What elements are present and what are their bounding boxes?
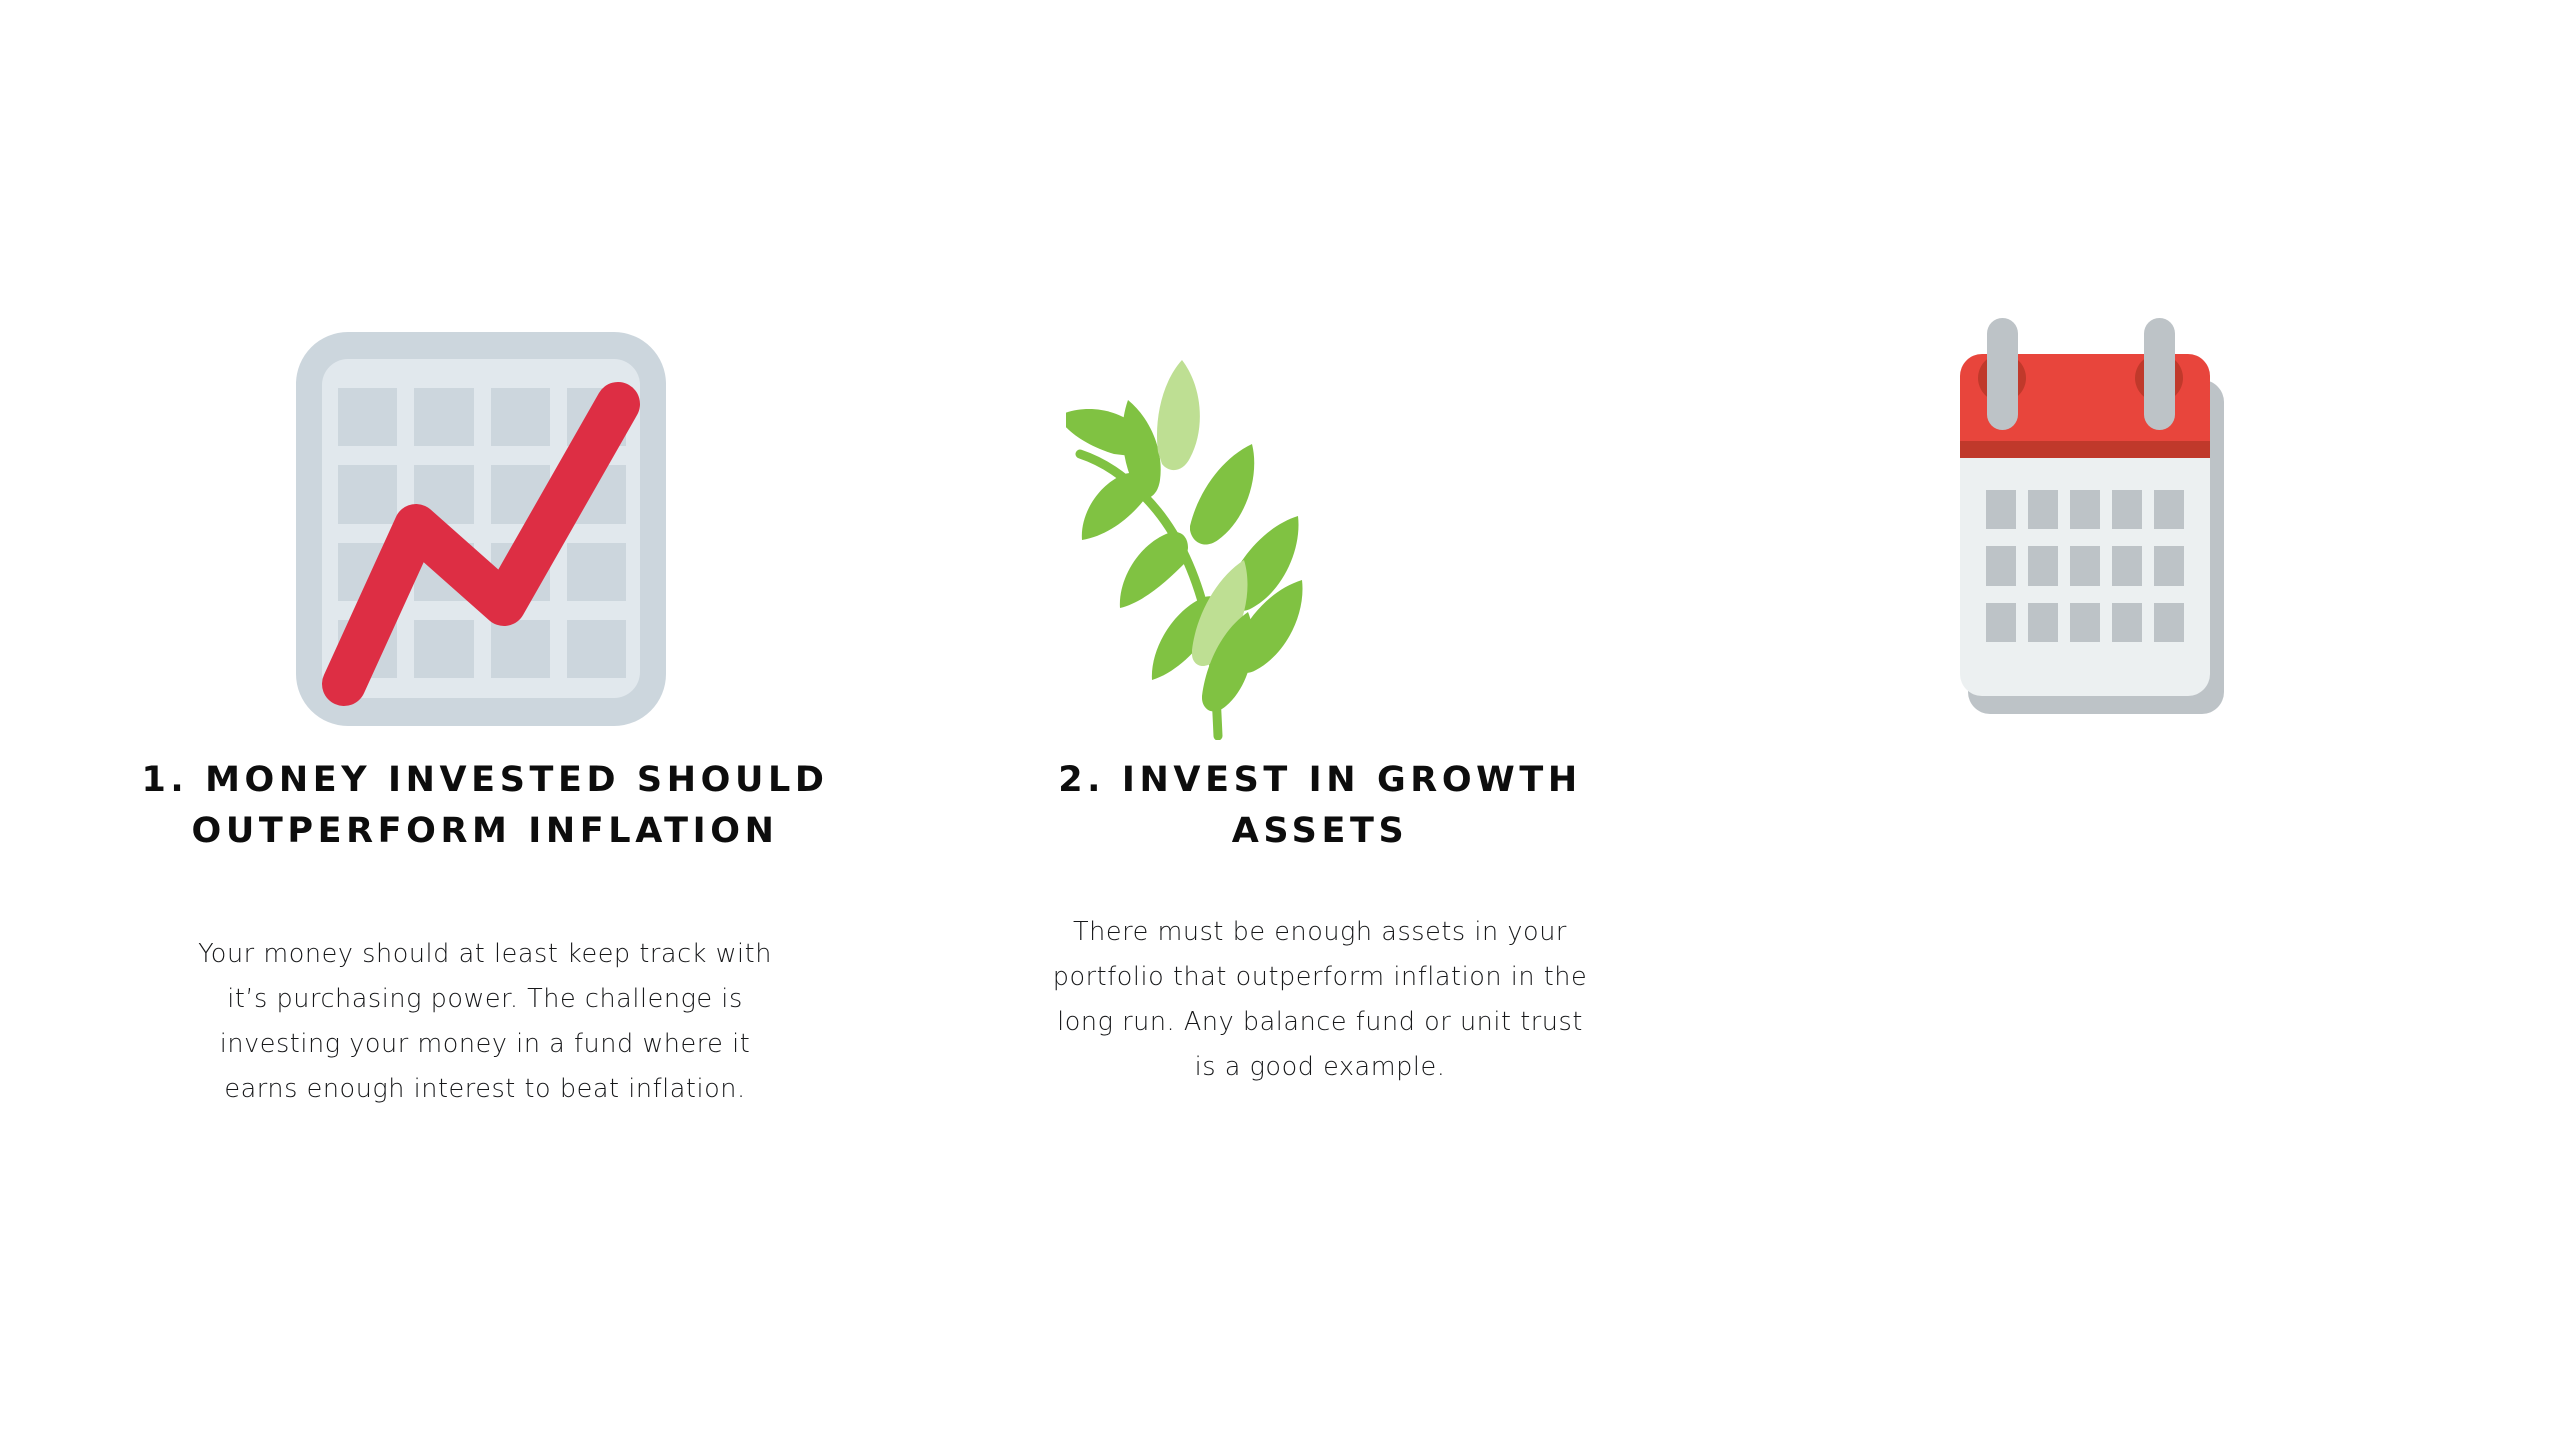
calendar-day-cell <box>2154 603 2184 642</box>
calendar-day-cell <box>2154 490 2184 529</box>
calendar-day-cell <box>2112 603 2142 642</box>
calendar-day-cell <box>2070 546 2100 585</box>
calendar-day-cell <box>2070 490 2100 529</box>
calendar-day-cell <box>2154 546 2184 585</box>
calendar-day-cell <box>2112 546 2142 585</box>
column-money-invested: 1. MONEY INVESTED SHOULD OUTPERFORM INFL… <box>60 0 910 1440</box>
leaf-branch-group <box>1066 360 1303 736</box>
calendar-day-cell <box>2070 603 2100 642</box>
column-calendar <box>1830 0 2470 1440</box>
calendar-icon <box>1956 318 2224 718</box>
trend-line-icon <box>296 332 666 726</box>
leaf-branch-icon <box>1066 320 1366 740</box>
calendar-day-cell <box>1986 546 2016 585</box>
calendar-body <box>1960 458 2210 696</box>
infographic-canvas: 1. MONEY INVESTED SHOULD OUTPERFORM INFL… <box>0 0 2560 1440</box>
calendar-day-cell <box>2028 490 2058 529</box>
calendar-day-grid <box>1986 490 2184 642</box>
calendar-day-cell <box>1986 490 2016 529</box>
icon-slot-3 <box>1830 300 2470 740</box>
calendar-header-band <box>1960 441 2210 458</box>
column-2-body: There must be enough assets in your port… <box>1000 910 1640 1090</box>
column-1-body: Your money should at least keep track wi… <box>60 932 910 1112</box>
calendar-day-cell <box>2112 490 2142 529</box>
column-growth-assets: 2. INVEST IN GROWTH ASSETS There must be… <box>1000 0 1640 1440</box>
leaf-branch-graphic <box>1066 320 1366 740</box>
column-2-heading: 2. INVEST IN GROWTH ASSETS <box>1000 755 1640 857</box>
icon-slot-2 <box>1000 300 1640 740</box>
calendar-binder-right <box>2144 318 2175 430</box>
line-chart-icon <box>296 332 666 726</box>
calendar-binder-left <box>1987 318 2018 430</box>
calendar-day-cell <box>2028 603 2058 642</box>
calendar-day-cell <box>2028 546 2058 585</box>
column-1-heading: 1. MONEY INVESTED SHOULD OUTPERFORM INFL… <box>60 755 910 857</box>
icon-slot-1 <box>60 300 910 740</box>
calendar-day-cell <box>1986 603 2016 642</box>
